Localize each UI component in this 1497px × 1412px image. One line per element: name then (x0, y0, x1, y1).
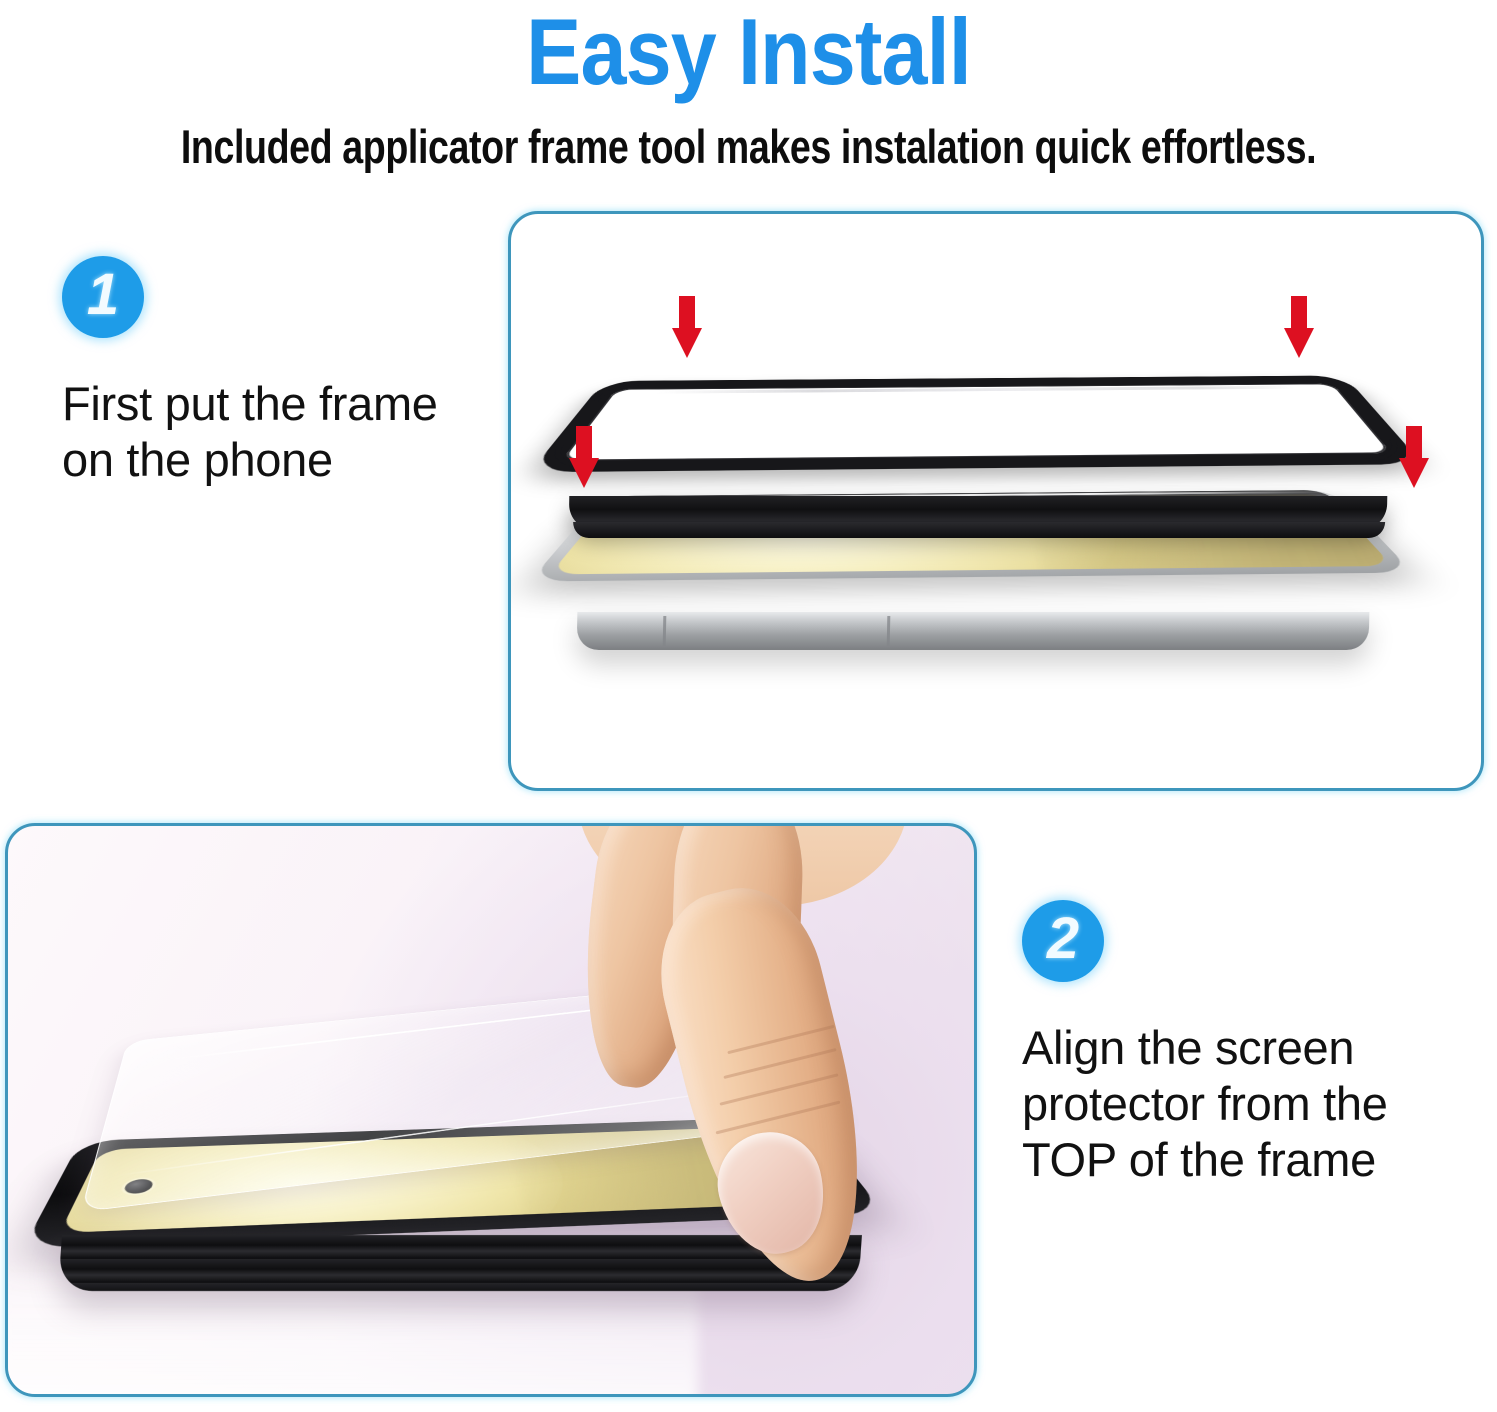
hand-holding-protector (568, 823, 977, 1286)
down-arrow-icon (569, 426, 599, 488)
page-subtitle: Included applicator frame tool makes ins… (150, 120, 1348, 174)
arrow-head (1284, 328, 1314, 358)
arrow-shaft (679, 296, 695, 330)
panel-2-scene (8, 826, 974, 1394)
arrow-head (1399, 458, 1429, 488)
step-2-badge: 2 (1022, 900, 1104, 982)
step-2-illustration-panel (5, 823, 977, 1397)
phone-side-edge (577, 612, 1370, 650)
down-arrow-icon (1284, 296, 1314, 358)
applicator-frame-ring (530, 375, 1423, 472)
arrow-head (672, 328, 702, 358)
panel-1-scene (511, 214, 1481, 788)
down-arrow-icon (672, 296, 702, 358)
arrow-shaft (576, 426, 592, 460)
page-title: Easy Install (90, 2, 1407, 102)
arrow-shaft (1291, 296, 1307, 330)
step-1-text: First put the frame on the phone (62, 376, 482, 488)
applicator-frame-step1 (530, 375, 1423, 472)
step-2-block: 2 Align the screen protector from the TO… (1022, 900, 1452, 1188)
phone-antenna-seam (887, 616, 891, 646)
down-arrow-icon (1399, 426, 1429, 488)
step-1-badge: 1 (62, 256, 144, 338)
arrow-head (569, 458, 599, 488)
phone-antenna-seam (663, 616, 667, 646)
arrow-shaft (1406, 426, 1422, 460)
frame-highlight (656, 386, 1294, 394)
step-2-text: Align the screen protector from the TOP … (1022, 1020, 1452, 1188)
step-1-illustration-panel (508, 211, 1484, 791)
step-1-block: 1 First put the frame on the phone (62, 256, 482, 488)
applicator-frame-lip-shadow (573, 522, 1385, 538)
